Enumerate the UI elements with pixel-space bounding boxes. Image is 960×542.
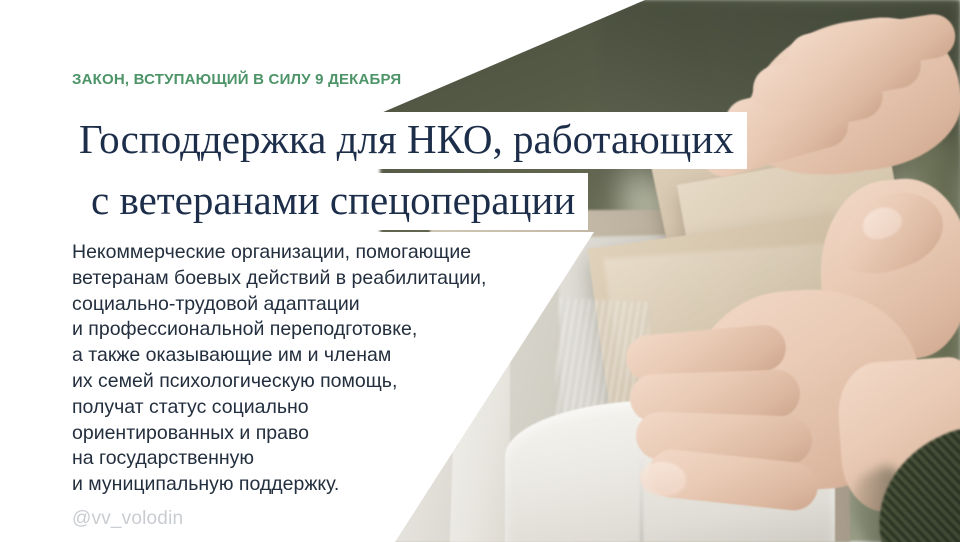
body-line: и муниципальную поддержку.: [72, 472, 486, 498]
page-title: Господдержка для НКО, работающих с ветер…: [66, 112, 747, 230]
body-line: ветеранам боевых действий в реабилитации…: [72, 266, 486, 292]
headline-line-1: Господдержка для НКО, работающих: [66, 112, 747, 169]
body-line: и профессиональной переподготовке,: [72, 317, 486, 343]
eyebrow-law-date: ЗАКОН, ВСТУПАЮЩИЙ В СИЛУ 9 ДЕКАБРЯ: [72, 71, 401, 88]
body-line: их семей психологическую помощь,: [72, 369, 486, 395]
text-content: ЗАКОН, ВСТУПАЮЩИЙ В СИЛУ 9 ДЕКАБРЯ Госпо…: [0, 0, 960, 542]
social-handle: @vv_volodin: [72, 508, 183, 530]
body-line: на государственную: [72, 446, 486, 472]
body-line: ориентированных и право: [72, 421, 486, 447]
news-card: ЗАКОН, ВСТУПАЮЩИЙ В СИЛУ 9 ДЕКАБРЯ Госпо…: [0, 0, 960, 542]
body-line: а также оказывающие им и членам: [72, 343, 486, 369]
headline-line-2: с ветеранами спецоперации: [78, 173, 588, 230]
body-line: социально-трудовой адаптации: [72, 292, 486, 318]
body-line: Некоммерческие организации, помогающие: [72, 240, 486, 266]
body-paragraph: Некоммерческие организации, помогающие в…: [72, 240, 486, 498]
body-line: получат статус социально: [72, 395, 486, 421]
